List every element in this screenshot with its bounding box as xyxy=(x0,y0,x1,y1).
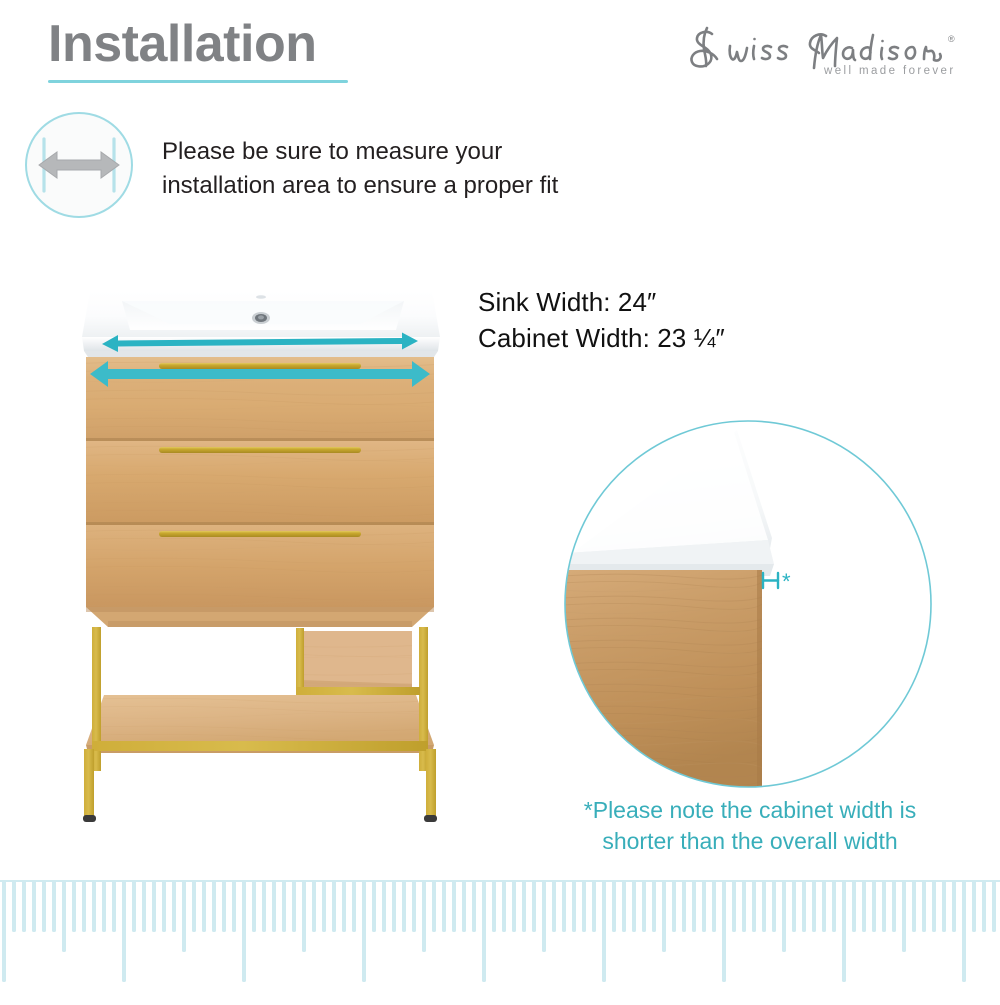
ruler-tick xyxy=(782,880,786,952)
ruler-tick xyxy=(292,880,296,932)
open-shelf-section xyxy=(83,627,437,822)
ruler-tick xyxy=(692,880,696,932)
ruler-tick xyxy=(12,880,16,932)
ruler-tick xyxy=(982,880,986,932)
ruler-tick xyxy=(712,880,716,932)
ruler-tick xyxy=(512,880,516,932)
swiss-madison-logo: ® well made forever xyxy=(676,24,976,86)
cabinet-edge-detail-circle: * xyxy=(562,418,934,790)
ruler-tick xyxy=(532,880,536,932)
ruler-tick xyxy=(212,880,216,932)
installation-page: Installation xyxy=(0,0,1000,1000)
ruler-tick xyxy=(732,880,736,932)
frame-leg-right-front xyxy=(426,749,436,817)
ruler-tick xyxy=(262,880,266,932)
ruler-tick xyxy=(962,880,966,982)
ruler-tick xyxy=(762,880,766,932)
ruler-tick xyxy=(682,880,686,932)
ruler-tick xyxy=(42,880,46,932)
ruler-tick xyxy=(772,880,776,932)
ruler-tick xyxy=(72,880,76,932)
ruler-tick xyxy=(872,880,876,932)
ruler-tick xyxy=(152,880,156,932)
dimension-labels: Sink Width: 24″ Cabinet Width: 23 ¼″ xyxy=(478,285,725,357)
ruler-tick xyxy=(552,880,556,932)
cabinet-width-note: *Please note the cabinet width is shorte… xyxy=(548,795,952,857)
ruler-tick xyxy=(912,880,916,932)
ruler-tick xyxy=(722,880,726,982)
ruler-tick xyxy=(492,880,496,932)
cabinet-width-label: Cabinet Width: 23 ¼″ xyxy=(478,321,725,357)
ruler-tick xyxy=(422,880,426,952)
ruler-tick xyxy=(852,880,856,932)
ruler-tick xyxy=(842,880,846,982)
ruler-tick xyxy=(752,880,756,932)
ruler-tick xyxy=(462,880,466,932)
cabinet-body xyxy=(86,357,434,627)
ruler-decoration xyxy=(0,880,1000,1000)
ruler-tick xyxy=(312,880,316,932)
ruler-tick xyxy=(172,880,176,932)
ruler-tick xyxy=(932,880,936,932)
ruler-tick xyxy=(542,880,546,952)
ruler-tick xyxy=(82,880,86,932)
ruler-tick xyxy=(52,880,56,932)
sink-basin xyxy=(82,291,440,357)
shelf-rail xyxy=(92,741,428,751)
ruler-tick xyxy=(602,880,606,982)
ruler-tick xyxy=(132,880,136,932)
ruler-tick xyxy=(22,880,26,932)
ruler-tick xyxy=(522,880,526,932)
ruler-tick xyxy=(282,880,286,932)
ruler-tick xyxy=(342,880,346,932)
foot-right xyxy=(424,815,437,822)
ruler-tick xyxy=(582,880,586,932)
ruler-tick xyxy=(942,880,946,932)
ruler-tick xyxy=(952,880,956,932)
detail-asterisk: * xyxy=(782,569,791,594)
foot-left xyxy=(83,815,96,822)
ruler-tick xyxy=(662,880,666,952)
ruler-tick xyxy=(632,880,636,932)
ruler-tick xyxy=(142,880,146,932)
ruler-tick xyxy=(792,880,796,932)
ruler-tick xyxy=(612,880,616,932)
sink-width-label: Sink Width: 24″ xyxy=(478,285,725,321)
recess-bottom-rail xyxy=(296,687,420,695)
ruler-tick xyxy=(92,880,96,932)
ruler-tick xyxy=(702,880,706,932)
ruler-tick xyxy=(62,880,66,952)
ruler-tick xyxy=(162,880,166,932)
ruler-tick xyxy=(592,880,596,932)
ruler-tick xyxy=(242,880,246,982)
ruler-tick xyxy=(442,880,446,932)
ruler-tick xyxy=(352,880,356,932)
vanity-product-image xyxy=(60,275,460,835)
page-title: Installation xyxy=(48,17,316,72)
ruler-tick xyxy=(972,880,976,932)
ruler-tick xyxy=(192,880,196,932)
ruler-tick xyxy=(122,880,126,982)
ruler-tick xyxy=(622,880,626,932)
ruler-tick xyxy=(432,880,436,932)
recess-divider xyxy=(296,628,304,694)
logo-tagline: well made forever xyxy=(823,65,956,77)
ruler-tick xyxy=(892,880,896,932)
double-arrow-measure-icon xyxy=(25,112,133,218)
ruler-tick xyxy=(332,880,336,932)
frame-leg-left-front xyxy=(84,749,94,817)
ruler-tick xyxy=(102,880,106,932)
ruler-tick xyxy=(642,880,646,932)
ruler-baseline xyxy=(0,880,1000,882)
ruler-tick xyxy=(272,880,276,932)
measure-instruction-text: Please be sure to measure your installat… xyxy=(162,135,622,203)
ruler-tick xyxy=(202,880,206,932)
ruler-tick xyxy=(562,880,566,932)
ruler-tick xyxy=(652,880,656,932)
drawer-handle-2 xyxy=(159,447,361,453)
title-underline xyxy=(48,80,348,83)
ruler-tick xyxy=(2,880,6,982)
ruler-tick xyxy=(302,880,306,952)
ruler-tick xyxy=(812,880,816,932)
logo-registered-mark: ® xyxy=(948,34,955,44)
ruler-tick xyxy=(402,880,406,932)
ruler-tick xyxy=(382,880,386,932)
ruler-tick xyxy=(832,880,836,932)
ruler-tick xyxy=(372,880,376,932)
ruler-tick xyxy=(412,880,416,932)
ruler-tick xyxy=(112,880,116,932)
ruler-tick xyxy=(822,880,826,932)
ruler-tick xyxy=(802,880,806,932)
ruler-tick xyxy=(922,880,926,932)
ruler-tick xyxy=(322,880,326,932)
ruler-tick xyxy=(32,880,36,932)
ruler-tick xyxy=(222,880,226,932)
ruler-tick xyxy=(502,880,506,932)
drawer-handle-1 xyxy=(159,363,361,369)
ruler-tick xyxy=(232,880,236,932)
drawer-handle-3 xyxy=(159,531,361,537)
ruler-tick xyxy=(572,880,576,932)
ruler-tick xyxy=(252,880,256,932)
ruler-tick xyxy=(882,880,886,932)
ruler-tick xyxy=(472,880,476,932)
ruler-tick xyxy=(182,880,186,952)
ruler-tick xyxy=(742,880,746,932)
ruler-tick xyxy=(452,880,456,932)
ruler-tick xyxy=(482,880,486,982)
ruler-tick xyxy=(902,880,906,952)
ruler-tick xyxy=(672,880,676,932)
ruler-tick xyxy=(362,880,366,982)
ruler-tick xyxy=(862,880,866,932)
ruler-tick xyxy=(392,880,396,932)
ruler-tick xyxy=(992,880,996,932)
